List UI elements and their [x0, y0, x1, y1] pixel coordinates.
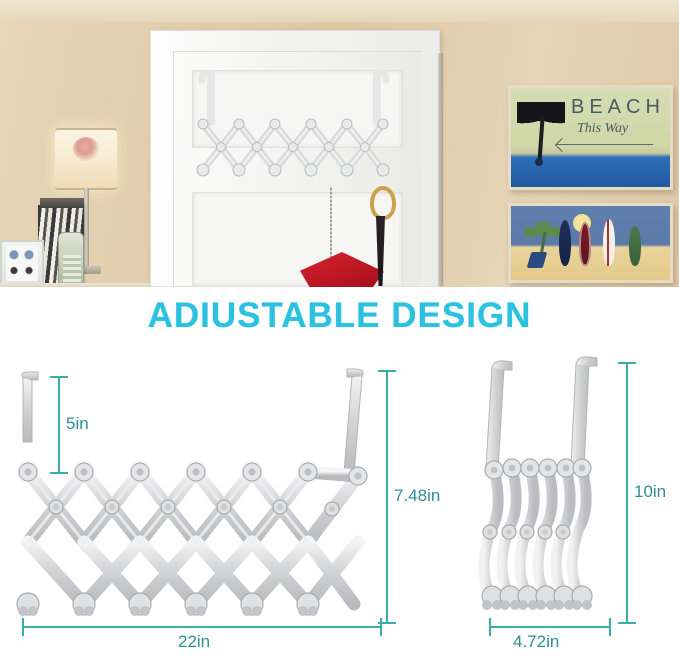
beach-chair-icon — [527, 252, 548, 268]
beach-sign-word: BEACH — [571, 96, 665, 119]
expanded-rack-illustration — [14, 364, 384, 629]
picture-frame — [0, 240, 44, 287]
cordless-phone — [58, 232, 84, 287]
lifestyle-photo: BEACH This Way — [0, 0, 679, 287]
table-lamp-shade — [55, 128, 117, 190]
coconut — [535, 158, 543, 166]
wall-art-beach-sign: BEACH This Way — [508, 85, 673, 190]
collapsed-arms — [484, 468, 586, 594]
collapsed-right-bracket — [571, 357, 597, 468]
collapsed-left-bracket — [486, 361, 512, 470]
dim-tick — [489, 618, 491, 636]
dim-tick — [618, 622, 636, 624]
right-door-bracket — [344, 369, 363, 474]
beach-sign-subtitle: This Way — [577, 121, 628, 137]
surfboard-icon — [629, 226, 641, 266]
dimension-line-5in — [58, 376, 60, 474]
picture-frame-photo — [6, 246, 38, 281]
table-surface — [0, 283, 150, 287]
dimension-label-total-height: 7.48in — [394, 486, 440, 506]
left-door-bracket — [22, 372, 38, 442]
lamp-stem — [84, 188, 89, 268]
dimension-label-collapsed-height: 10in — [634, 482, 666, 502]
bag-chain-strap — [330, 186, 332, 258]
dim-tick — [22, 618, 24, 636]
surfboard-icon — [579, 222, 591, 266]
product-infographic: BEACH This Way ADIUSTABLE DESIGN — [0, 0, 679, 667]
dimension-label-total-width: 22in — [178, 632, 210, 652]
book-top-edge — [40, 198, 84, 208]
left-arrow-icon — [557, 144, 653, 145]
dimension-line-10in — [626, 362, 628, 624]
surfboard-icon — [559, 220, 571, 266]
page-title: ADIUSTABLE DESIGN — [0, 296, 679, 336]
door-edge — [438, 53, 443, 286]
gold-ring-strap — [370, 186, 396, 220]
dim-tick — [50, 472, 68, 474]
dim-tick — [378, 370, 396, 372]
dimension-line-4-72in — [489, 626, 611, 628]
dim-tick — [380, 618, 382, 636]
pivot-joints — [49, 500, 339, 516]
dimension-diagrams: 5in 7.48in 22in — [0, 346, 679, 667]
lamp-floral-pattern — [73, 137, 99, 161]
dimension-line-7-48in — [386, 370, 388, 624]
coat-hooks — [17, 593, 319, 616]
dim-tick — [609, 618, 611, 636]
mounted-hanger-rack — [195, 70, 410, 205]
wall-art-surfboards — [508, 203, 673, 283]
phone-keypad — [63, 255, 81, 283]
dimension-line-22in — [22, 626, 382, 628]
dim-tick — [618, 362, 636, 364]
dim-tick — [50, 376, 68, 378]
dimension-label-bracket-height: 5in — [66, 414, 89, 434]
collapsed-rack-illustration — [472, 356, 642, 626]
dimension-label-collapsed-width: 4.72in — [513, 632, 559, 652]
ceiling — [0, 0, 679, 22]
surfboard-icon — [603, 219, 615, 266]
